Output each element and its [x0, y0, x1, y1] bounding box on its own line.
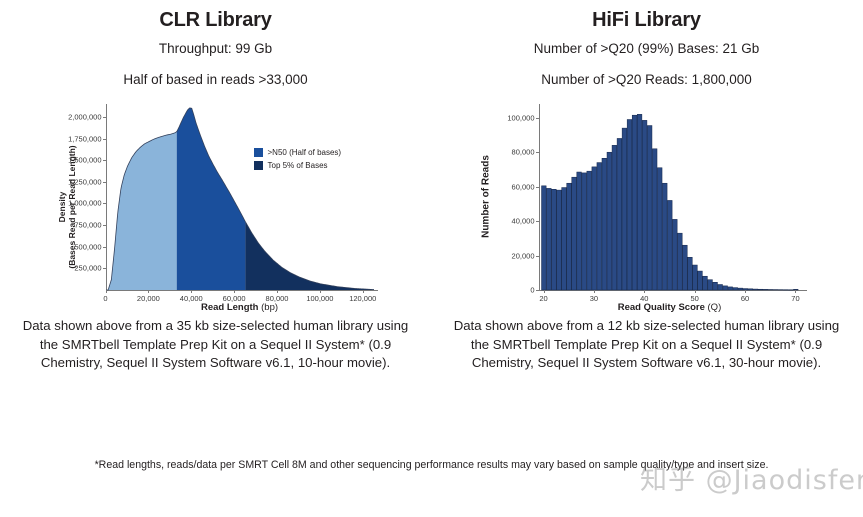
- clr-y-tickmark-0: [103, 268, 106, 269]
- clr-area-segment-0: [106, 132, 177, 290]
- clr-y-tickmark-2: [103, 225, 106, 226]
- hifi-y-tickmark-1: [536, 256, 539, 257]
- hifi-bar: [738, 288, 743, 290]
- hifi-x-tickmark-3: [695, 290, 696, 293]
- hifi-bar: [768, 289, 773, 290]
- clr-y-tickmark-5: [103, 160, 106, 161]
- clr-y-tickmark-6: [103, 139, 106, 140]
- hifi-q20-bases-stat: Number of >Q20 (99%) Bases: 21 Gb: [534, 41, 760, 56]
- clr-y-tickmark-3: [103, 203, 106, 204]
- clr-y-axis-label-line1: Density: [57, 112, 67, 302]
- hifi-bar: [748, 289, 753, 290]
- clr-x-tickmark-6: [363, 290, 364, 293]
- hifi-y-tickmark-2: [536, 221, 539, 222]
- hifi-bar: [622, 128, 627, 290]
- hifi-bar: [662, 183, 667, 290]
- clr-y-tick-4: 1,250,000: [68, 177, 101, 186]
- hifi-bar: [697, 271, 702, 290]
- hifi-bar: [707, 280, 712, 290]
- hifi-bar: [722, 286, 727, 290]
- hifi-bar: [642, 120, 647, 290]
- captions-container: Data shown above from a 35 kb size-selec…: [0, 317, 863, 373]
- clr-throughput-stat: Throughput: 99 Gb: [159, 41, 272, 56]
- hifi-bar: [561, 188, 566, 290]
- clr-x-tickmark-4: [277, 290, 278, 293]
- clr-legend: >N50 (Half of bases)Top 5% of Bases: [254, 148, 342, 174]
- hifi-bar: [551, 189, 556, 290]
- hifi-bar: [541, 186, 546, 290]
- clr-y-tick-2: 750,000: [74, 221, 101, 230]
- hifi-bar: [581, 173, 586, 290]
- clr-caption: Data shown above from a 35 kb size-selec…: [0, 317, 431, 373]
- hifi-bar: [601, 158, 606, 290]
- clr-y-tickmark-4: [103, 182, 106, 183]
- hifi-bar: [667, 200, 672, 290]
- hifi-bar: [677, 233, 682, 290]
- hifi-bar: [586, 171, 591, 290]
- hifi-bar: [732, 288, 737, 290]
- clr-x-axis-label-text: Read Length: [201, 302, 259, 313]
- clr-n50-stat: Half of based in reads >33,000: [123, 72, 307, 87]
- hifi-x-axis-label-text: Read Quality Score: [618, 302, 705, 313]
- hifi-bar: [763, 289, 768, 290]
- clr-legend-label-0: >N50 (Half of bases): [268, 148, 342, 157]
- hifi-x-tickmark-5: [795, 290, 796, 293]
- hifi-plot-area: [539, 104, 801, 290]
- hifi-bar: [702, 276, 707, 290]
- infographic-root: CLR Library Throughput: 99 Gb Half of ba…: [0, 0, 863, 517]
- clr-x-axis-label-unit: (bp): [261, 302, 278, 313]
- clr-y-tick-6: 1,750,000: [68, 134, 101, 143]
- hifi-y-tick-3: 60,000: [512, 182, 535, 191]
- hifi-bar: [687, 257, 692, 290]
- hifi-bar: [717, 284, 722, 290]
- hifi-y-tick-0: 0: [530, 286, 534, 295]
- clr-legend-label-1: Top 5% of Bases: [268, 161, 328, 170]
- clr-plot-area: [106, 104, 374, 290]
- hifi-bar: [652, 149, 657, 290]
- hifi-quality-histogram: Number of Reads 020,00040,00060,00080,00…: [467, 96, 827, 311]
- hifi-panel-title: HiFi Library: [592, 9, 701, 32]
- hifi-bar: [632, 115, 637, 290]
- clr-density-chart: Density (Bases Read per Read Length) 250…: [36, 96, 396, 311]
- clr-y-tickmark-7: [103, 117, 106, 118]
- clr-x-tickmark-0: [106, 290, 107, 293]
- hifi-bar: [657, 168, 662, 290]
- clr-x-tickmark-3: [234, 290, 235, 293]
- panel-hifi-library: HiFi Library Number of >Q20 (99%) Bases:…: [431, 0, 862, 311]
- hifi-bar: [753, 289, 758, 290]
- hifi-y-tick-5: 100,000: [507, 113, 534, 122]
- hifi-bar: [758, 289, 763, 290]
- clr-legend-item-0: >N50 (Half of bases): [254, 148, 342, 157]
- hifi-y-tick-1: 20,000: [512, 251, 535, 260]
- clr-y-tick-1: 500,000: [74, 242, 101, 251]
- hifi-bar: [692, 265, 697, 290]
- hifi-q20-reads-stat: Number of >Q20 Reads: 1,800,000: [541, 72, 752, 87]
- panel-clr-library: CLR Library Throughput: 99 Gb Half of ba…: [0, 0, 431, 311]
- clr-x-axis-label: Read Length (bp): [106, 302, 374, 313]
- footnote: *Read lengths, reads/data per SMRT Cell …: [0, 458, 863, 472]
- hifi-bar: [647, 126, 652, 290]
- hifi-x-axis-label: Read Quality Score (Q): [539, 302, 801, 313]
- hifi-bar: [576, 172, 581, 290]
- clr-x-tickmark-2: [191, 290, 192, 293]
- hifi-bar: [596, 163, 601, 290]
- clr-panel-title: CLR Library: [159, 9, 271, 32]
- hifi-y-axis-label: Number of Reads: [480, 132, 491, 262]
- hifi-x-tickmark-4: [745, 290, 746, 293]
- hifi-x-axis-label-unit: (Q): [708, 302, 722, 313]
- hifi-bar: [571, 177, 576, 290]
- hifi-bar: [612, 145, 617, 290]
- hifi-bar: [556, 190, 561, 290]
- hifi-bar: [712, 282, 717, 290]
- hifi-bar: [566, 183, 571, 290]
- clr-legend-item-1: Top 5% of Bases: [254, 161, 342, 170]
- clr-x-tickmark-1: [148, 290, 149, 293]
- clr-legend-swatch-0: [254, 148, 263, 157]
- hifi-y-tickmark-4: [536, 152, 539, 153]
- hifi-x-tickmark-0: [544, 290, 545, 293]
- clr-y-tick-5: 1,500,000: [68, 156, 101, 165]
- hifi-bar: [637, 114, 642, 290]
- clr-y-tickmark-1: [103, 247, 106, 248]
- hifi-bar: [546, 188, 551, 290]
- clr-area-segment-2: [245, 222, 374, 290]
- clr-legend-swatch-1: [254, 161, 263, 170]
- clr-y-tick-3: 1,000,000: [68, 199, 101, 208]
- hifi-x-tickmark-2: [644, 290, 645, 293]
- hifi-bar: [682, 245, 687, 290]
- clr-y-tick-7: 2,000,000: [68, 112, 101, 121]
- clr-y-tick-0: 250,000: [74, 264, 101, 273]
- hifi-caption: Data shown above from a 12 kb size-selec…: [431, 317, 862, 373]
- hifi-bar: [627, 120, 632, 291]
- hifi-y-tick-4: 80,000: [512, 148, 535, 157]
- panels-container: CLR Library Throughput: 99 Gb Half of ba…: [0, 0, 863, 311]
- hifi-bar: [617, 138, 622, 290]
- hifi-bar: [591, 167, 596, 290]
- hifi-y-tick-2: 40,000: [512, 217, 535, 226]
- clr-x-tickmark-5: [320, 290, 321, 293]
- hifi-x-tickmark-1: [594, 290, 595, 293]
- hifi-bar: [607, 152, 612, 290]
- hifi-bar: [727, 287, 732, 290]
- clr-area-segment-1: [176, 108, 245, 290]
- hifi-y-tickmark-3: [536, 187, 539, 188]
- hifi-y-tickmark-5: [536, 118, 539, 119]
- hifi-bar: [672, 219, 677, 290]
- hifi-y-tickmark-0: [536, 290, 539, 291]
- clr-x-axis-line: [106, 290, 378, 291]
